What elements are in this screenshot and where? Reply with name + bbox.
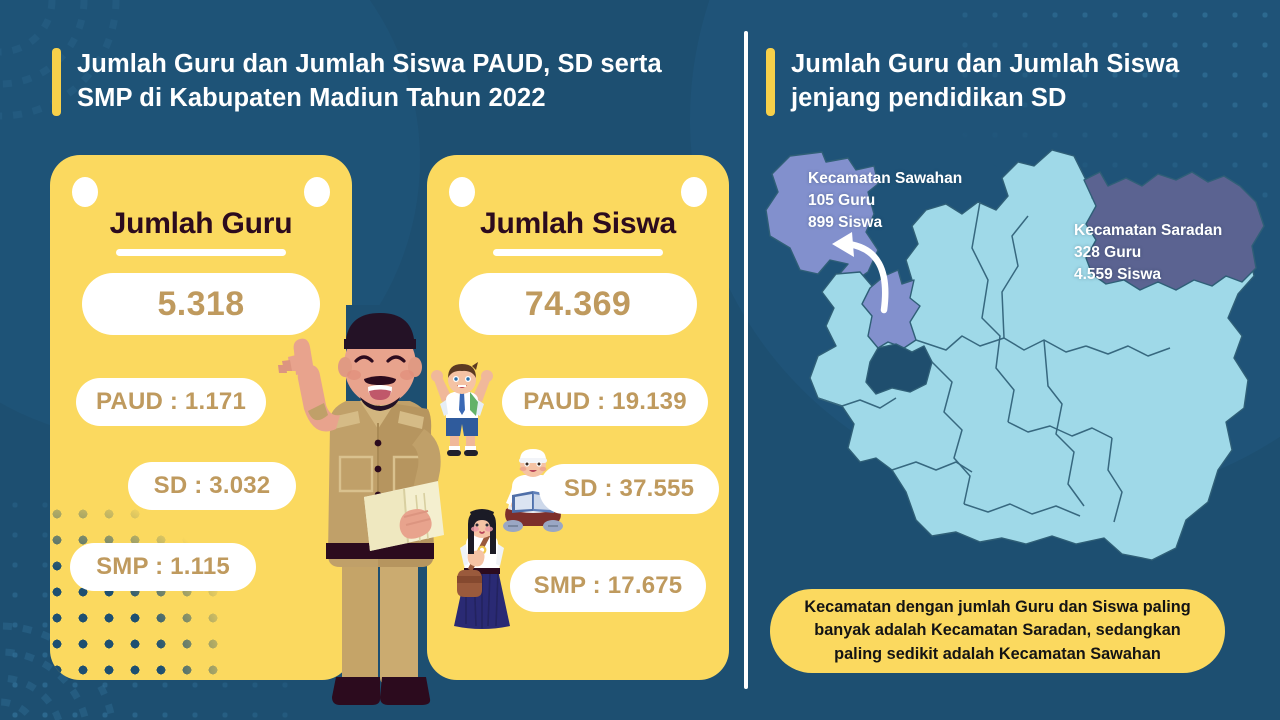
total-value-siswa: 74.369 — [459, 273, 697, 335]
conclusion-text: Kecamatan dengan jumlah Guru dan Siswa p… — [804, 596, 1190, 665]
card-punch-hole-left — [72, 177, 98, 207]
title-accent-bar-right — [766, 48, 775, 116]
map-region-sawahan-inset[interactable] — [862, 270, 920, 348]
card-heading-rule — [493, 249, 663, 256]
right-title-text: Jumlah Guru dan Jumlah Siswa jenjang pen… — [791, 48, 1179, 116]
card-heading-guru: Jumlah Guru — [50, 207, 352, 241]
level-pill-siswa-smp: SMP : 17.675 — [510, 560, 706, 612]
map-kabupaten-madiun: Kecamatan Sawahan 105 Guru 899 Siswa Kec… — [756, 140, 1268, 570]
card-punch-hole-right — [681, 177, 707, 207]
card-heading-rule — [116, 249, 286, 256]
card-punch-hole-left — [449, 177, 475, 207]
right-panel-title: Jumlah Guru dan Jumlah Siswa jenjang pen… — [766, 48, 1246, 116]
level-pill-guru-paud: PAUD : 1.171 — [76, 378, 266, 426]
level-pill-siswa-paud: PAUD : 19.139 — [502, 378, 708, 426]
panel-divider — [744, 31, 748, 689]
map-label-sawahan: Kecamatan Sawahan 105 Guru 899 Siswa — [808, 168, 962, 234]
left-title-text: Jumlah Guru dan Jumlah Siswa PAUD, SD se… — [77, 48, 662, 116]
level-pill-siswa-sd: SD : 37.555 — [539, 464, 719, 514]
card-punch-hole-right — [304, 177, 330, 207]
left-panel-title: Jumlah Guru dan Jumlah Siswa PAUD, SD se… — [52, 48, 712, 116]
card-heading-siswa: Jumlah Siswa — [427, 207, 729, 241]
total-value-guru: 5.318 — [82, 273, 320, 335]
map-label-saradan: Kecamatan Saradan 328 Guru 4.559 Siswa — [1074, 220, 1222, 286]
level-pill-guru-smp: SMP : 1.115 — [70, 543, 256, 591]
level-pill-guru-sd: SD : 3.032 — [128, 462, 296, 510]
conclusion-box: Kecamatan dengan jumlah Guru dan Siswa p… — [770, 589, 1225, 673]
title-accent-bar-left — [52, 48, 61, 116]
map-region-dark-inset[interactable] — [866, 344, 932, 394]
